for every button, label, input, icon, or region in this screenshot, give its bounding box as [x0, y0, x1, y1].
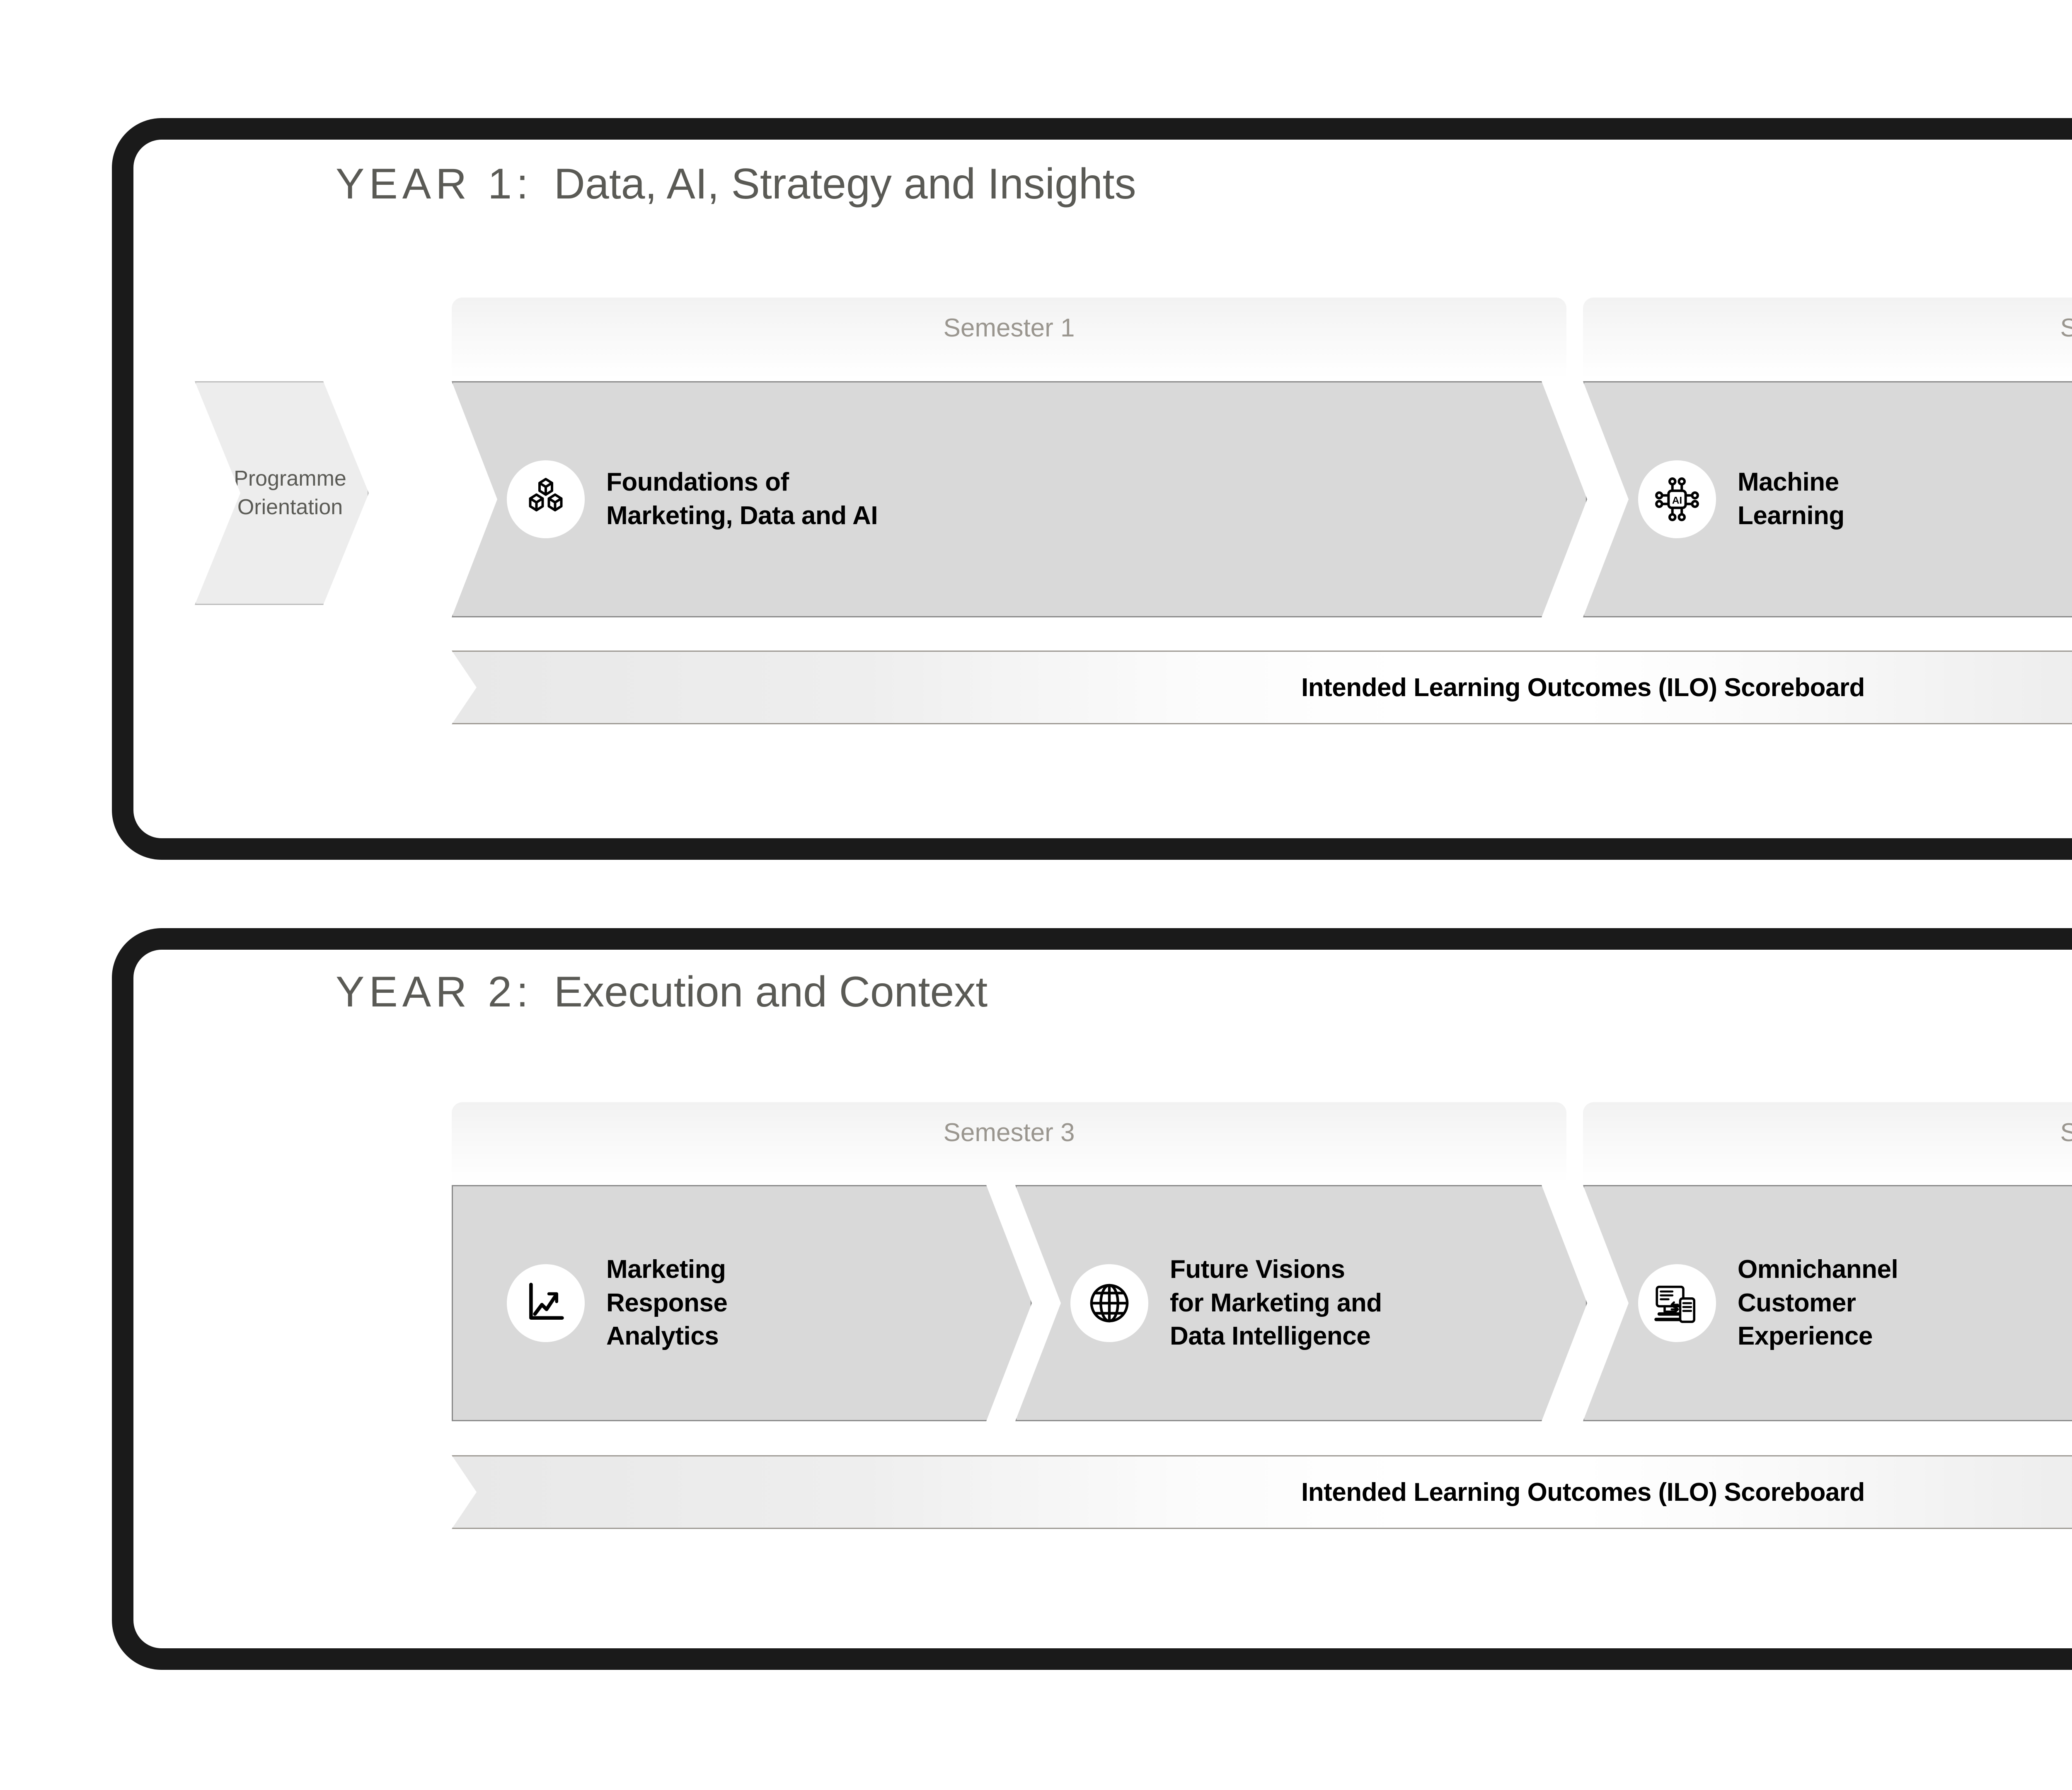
monitor-mobile-devices-icon — [1638, 1264, 1716, 1342]
course-label-foundations: Foundations of Marketing, Data and AI — [606, 466, 878, 532]
course-card-machine-learning[interactable]: AI Machine Learning — [1583, 381, 2072, 617]
semester-label-3: Semester 3 — [452, 1118, 1566, 1147]
line-chart-trending-up-icon — [507, 1264, 585, 1342]
semester-label-4: Semester 4 — [1583, 1118, 2072, 1147]
year-2-title-prefix: YEAR 2: — [336, 968, 533, 1016]
ilo-scoreboard-label-year-2: Intended Learning Outcomes (ILO) Scorebo… — [1301, 1478, 1865, 1507]
ilo-scoreboard-year-2[interactable]: Intended Learning Outcomes (ILO) Scorebo… — [452, 1455, 2072, 1529]
semester-band-1: Semester 1 — [452, 298, 1566, 378]
course-label-omnichannel-customer-experience: Omnichannel Customer Experience — [1738, 1253, 1898, 1353]
year-2-title-text: Execution and Context — [554, 968, 988, 1016]
course-label-marketing-response-analytics: Marketing Response Analytics — [606, 1253, 727, 1353]
ai-chip-icon: AI — [1638, 460, 1716, 538]
year-2-title: YEAR 2: Execution and Context — [336, 968, 988, 1017]
semester-band-4: Semester 4 — [1583, 1102, 2072, 1183]
ilo-scoreboard-label-year-1: Intended Learning Outcomes (ILO) Scorebo… — [1301, 673, 1865, 702]
course-label-future-visions: Future Visions for Marketing and Data In… — [1170, 1253, 1382, 1353]
svg-text:AI: AI — [1672, 495, 1682, 506]
year-1-title-prefix: YEAR 1: — [336, 160, 533, 208]
course-label-machine-learning: Machine Learning — [1738, 466, 1844, 532]
programme-roadmap-diagram: YEAR 1: Data, AI, Strategy and Insights … — [0, 0, 2072, 1790]
semester-label-2: Semester 2 — [1583, 313, 2072, 343]
course-card-future-visions[interactable]: Future Visions for Marketing and Data In… — [1015, 1185, 1587, 1421]
year-1-title-text: Data, AI, Strategy and Insights — [554, 160, 1136, 208]
semester-band-3: Semester 3 — [452, 1102, 1566, 1183]
semester-band-2: Semester 2 — [1583, 298, 2072, 378]
course-card-marketing-response-analytics[interactable]: Marketing Response Analytics — [452, 1185, 1032, 1421]
course-card-foundations[interactable]: Foundations of Marketing, Data and AI — [452, 381, 1587, 617]
year-1-title: YEAR 1: Data, AI, Strategy and Insights — [336, 160, 1136, 209]
cubes-blocks-icon — [507, 460, 585, 538]
globe-icon — [1070, 1264, 1148, 1342]
semester-label-1: Semester 1 — [452, 313, 1566, 343]
course-card-omnichannel-customer-experience[interactable]: Omnichannel Customer Experience — [1583, 1185, 2072, 1421]
ilo-scoreboard-year-1[interactable]: Intended Learning Outcomes (ILO) Scorebo… — [452, 651, 2072, 724]
